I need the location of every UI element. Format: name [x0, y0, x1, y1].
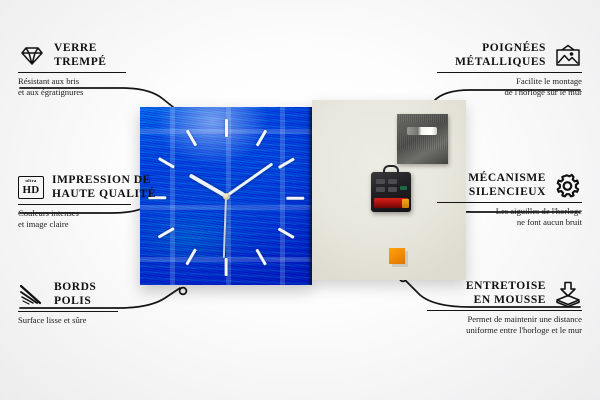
movement-vent: [376, 179, 385, 184]
feature-subtitle: Couleurs intenses et image claire: [18, 208, 168, 229]
movement-vent: [388, 179, 397, 184]
feature-rule: [18, 311, 118, 312]
polished-edge-lines-icon: [18, 284, 46, 306]
clock-movement: [371, 172, 411, 212]
feature-rule: [437, 202, 582, 203]
feature-rule: [427, 310, 582, 311]
feature-subtitle: Surface lisse et sûre: [18, 315, 163, 326]
feature-title: POIGNÉES MÉTALLIQUES: [455, 42, 546, 69]
feature-title: ENTRETOISE EN MOUSSE: [466, 280, 546, 307]
movement-vent: [388, 187, 397, 192]
arrow-down-onto-layer-icon: [554, 281, 582, 307]
feature-entretoise-en-mousse: ENTRETOISE EN MOUSSE Permet de maintenir…: [427, 280, 582, 336]
feature-subtitle: Permet de maintenir une distance uniform…: [427, 314, 582, 335]
hour-tick: [286, 197, 304, 200]
movement-label-chip: [400, 186, 407, 190]
feature-mecanisme-silencieux: MÉCANISME SILENCIEUX Les aiguilles de l'…: [437, 172, 582, 228]
ultra-hd-main-text: HD: [23, 185, 40, 196]
diamond-icon: [18, 45, 46, 67]
movement-hook: [383, 165, 399, 173]
feature-bords-polis: BORDS POLIS Surface lisse et sûre: [18, 281, 163, 326]
clock-hub: [223, 193, 230, 200]
metal-hanger-plate: [397, 114, 448, 164]
feature-title: VERRE TREMPÉ: [54, 42, 107, 69]
movement-vent: [376, 187, 385, 192]
hanger-slot: [407, 127, 437, 135]
gear-icon: [554, 173, 582, 199]
feature-subtitle: Les aiguilles de l'horloge ne font aucun…: [437, 206, 582, 227]
feature-title: MÉCANISME SILENCIEUX: [468, 172, 546, 199]
feature-rule: [437, 72, 582, 73]
feature-title: IMPRESSION DE HAUTE QUALITÉ: [52, 174, 156, 201]
feature-impression-haute-qualite: ultra HD IMPRESSION DE HAUTE QUALITÉ Cou…: [18, 174, 168, 230]
minute-hand: [225, 162, 273, 197]
infographic-canvas: VERRE TREMPÉ Résistant aux bris et aux é…: [0, 0, 600, 400]
hour-tick: [225, 119, 228, 137]
feature-rule: [18, 72, 126, 73]
battery-positive-terminal: [402, 199, 409, 208]
foam-spacer: [389, 248, 405, 264]
hour-hand: [189, 173, 227, 198]
ultra-hd-icon: ultra HD: [18, 176, 44, 199]
feature-verre-trempe: VERRE TREMPÉ Résistant aux bris et aux é…: [18, 42, 163, 98]
hour-tick: [225, 258, 228, 276]
feature-subtitle: Facilite le montage de l'horloge sur le …: [437, 76, 582, 97]
feature-title: BORDS POLIS: [54, 281, 96, 308]
picture-frame-hanger-icon: [554, 44, 582, 68]
feature-rule: [18, 204, 131, 205]
feature-subtitle: Résistant aux bris et aux égratignures: [18, 76, 163, 97]
feature-poignees-metalliques: POIGNÉES MÉTALLIQUES Facilite le montage…: [437, 42, 582, 98]
connector-dot-bords-polis: [180, 288, 187, 295]
